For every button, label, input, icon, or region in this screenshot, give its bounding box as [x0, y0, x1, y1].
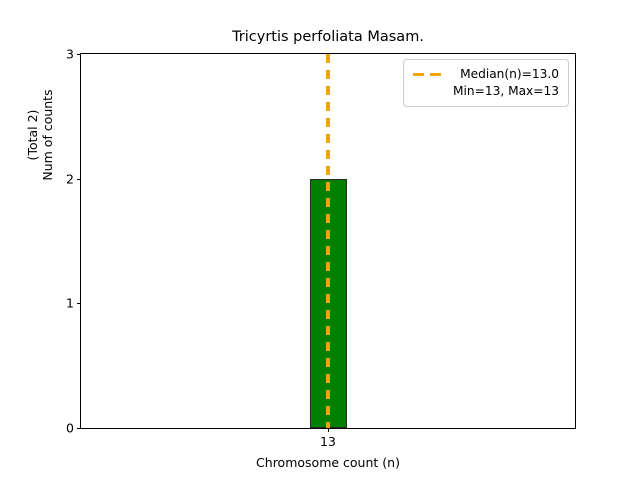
x-tick-label: 13 — [320, 434, 336, 449]
plot-data-area — [81, 54, 575, 428]
legend: Median(n)=13.0 Min=13, Max=13 — [403, 59, 569, 107]
y-tick-label: 2 — [66, 171, 74, 186]
x-axis-label: Chromosome count (n) — [80, 455, 576, 470]
y-axis-label-line2: (Total 2) — [25, 0, 40, 283]
y-tick-mark — [77, 428, 81, 429]
y-axis-label: (Total 2) Num of counts — [25, 0, 55, 283]
y-tick-label: 1 — [66, 296, 74, 311]
y-axis-label-line1: Num of counts — [40, 0, 55, 283]
chart-figure: Tricyrtis perfoliata Masam. 0 1 2 3 13 — [0, 0, 640, 480]
median-line — [326, 54, 329, 428]
legend-entry-median: Median(n)=13.0 Min=13, Max=13 — [412, 66, 559, 100]
chart-title: Tricyrtis perfoliata Masam. — [80, 28, 576, 46]
y-tick-label: 0 — [66, 421, 74, 436]
dashed-line-icon — [412, 66, 444, 83]
y-tick-label: 3 — [66, 47, 74, 62]
legend-label-median: Median(n)=13.0 — [453, 66, 559, 83]
legend-label-minmax: Min=13, Max=13 — [453, 83, 559, 100]
plot-axes: 0 1 2 3 13 — [80, 53, 576, 429]
x-tick-mark — [328, 428, 329, 432]
